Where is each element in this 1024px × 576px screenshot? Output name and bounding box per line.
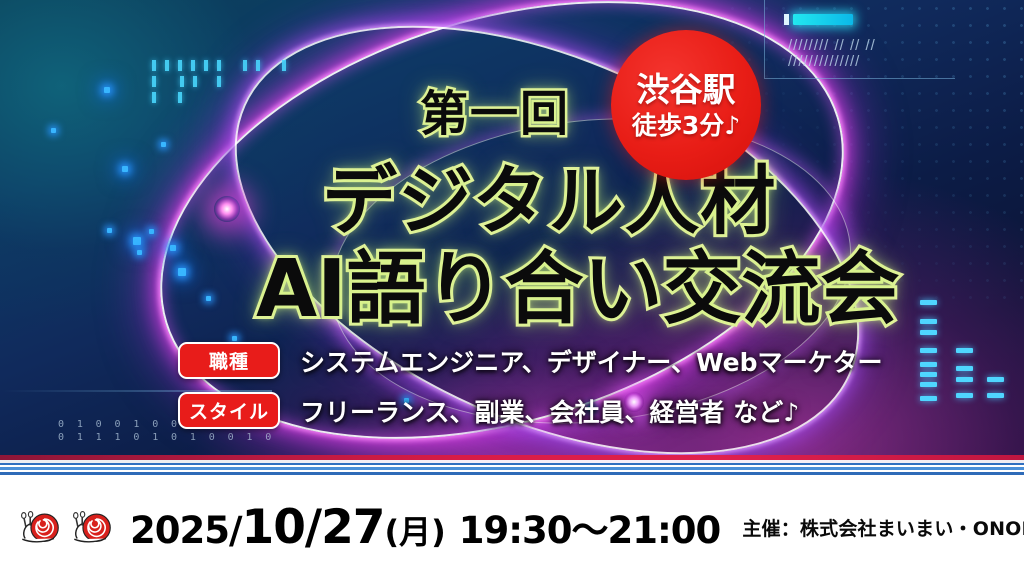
date-day-of-week: (月) [384,507,445,553]
snail-icon [70,505,116,549]
snail-icon [18,505,64,549]
date-year: 2025/ [130,509,242,552]
organizer-text: 主催：株式会社まいまい・ONOMUクリエイト [742,514,1024,541]
info-job-type-text: システムエンジニア、デザイナー、Webマーケター [300,343,883,379]
snail-mascot-group [18,505,116,549]
pill-style-label: スタイル [189,397,269,424]
badge-station-name: 渋谷駅 [637,73,736,106]
hero-artwork-background: //////// // // // ////////////// 0 1 0 0… [0,0,1024,478]
footer-bar: 2025/ 10/27 (月) 19:30〜21:00 主催：株式会社まいまい・… [0,478,1024,576]
edition-label: 第一回 [420,74,570,144]
divider-stripes [0,455,1024,478]
info-row-job-type: 職種 システムエンジニア、デザイナー、Webマーケター [178,342,883,379]
pill-style: スタイル [178,392,280,429]
pill-job-type: 職種 [178,342,280,379]
info-row-style: スタイル フリーランス、副業、会社員、経営者 など♪ [178,392,799,429]
station-access-badge: 渋谷駅 徒歩3分♪ [611,30,761,180]
event-poster: //////// // // // ////////////// 0 1 0 0… [0,0,1024,576]
badge-walk-time: 徒歩3分♪ [632,113,740,138]
date-month-day: 10/27 [242,500,385,555]
title-line-2: AI語り合い交流会 [256,224,900,339]
info-style-text: フリーランス、副業、会社員、経営者 など♪ [300,393,799,429]
event-datetime: 2025/ 10/27 (月) 19:30〜21:00 [130,500,720,555]
pill-job-type-label: 職種 [209,347,249,374]
event-time: 19:30〜21:00 [459,500,721,554]
